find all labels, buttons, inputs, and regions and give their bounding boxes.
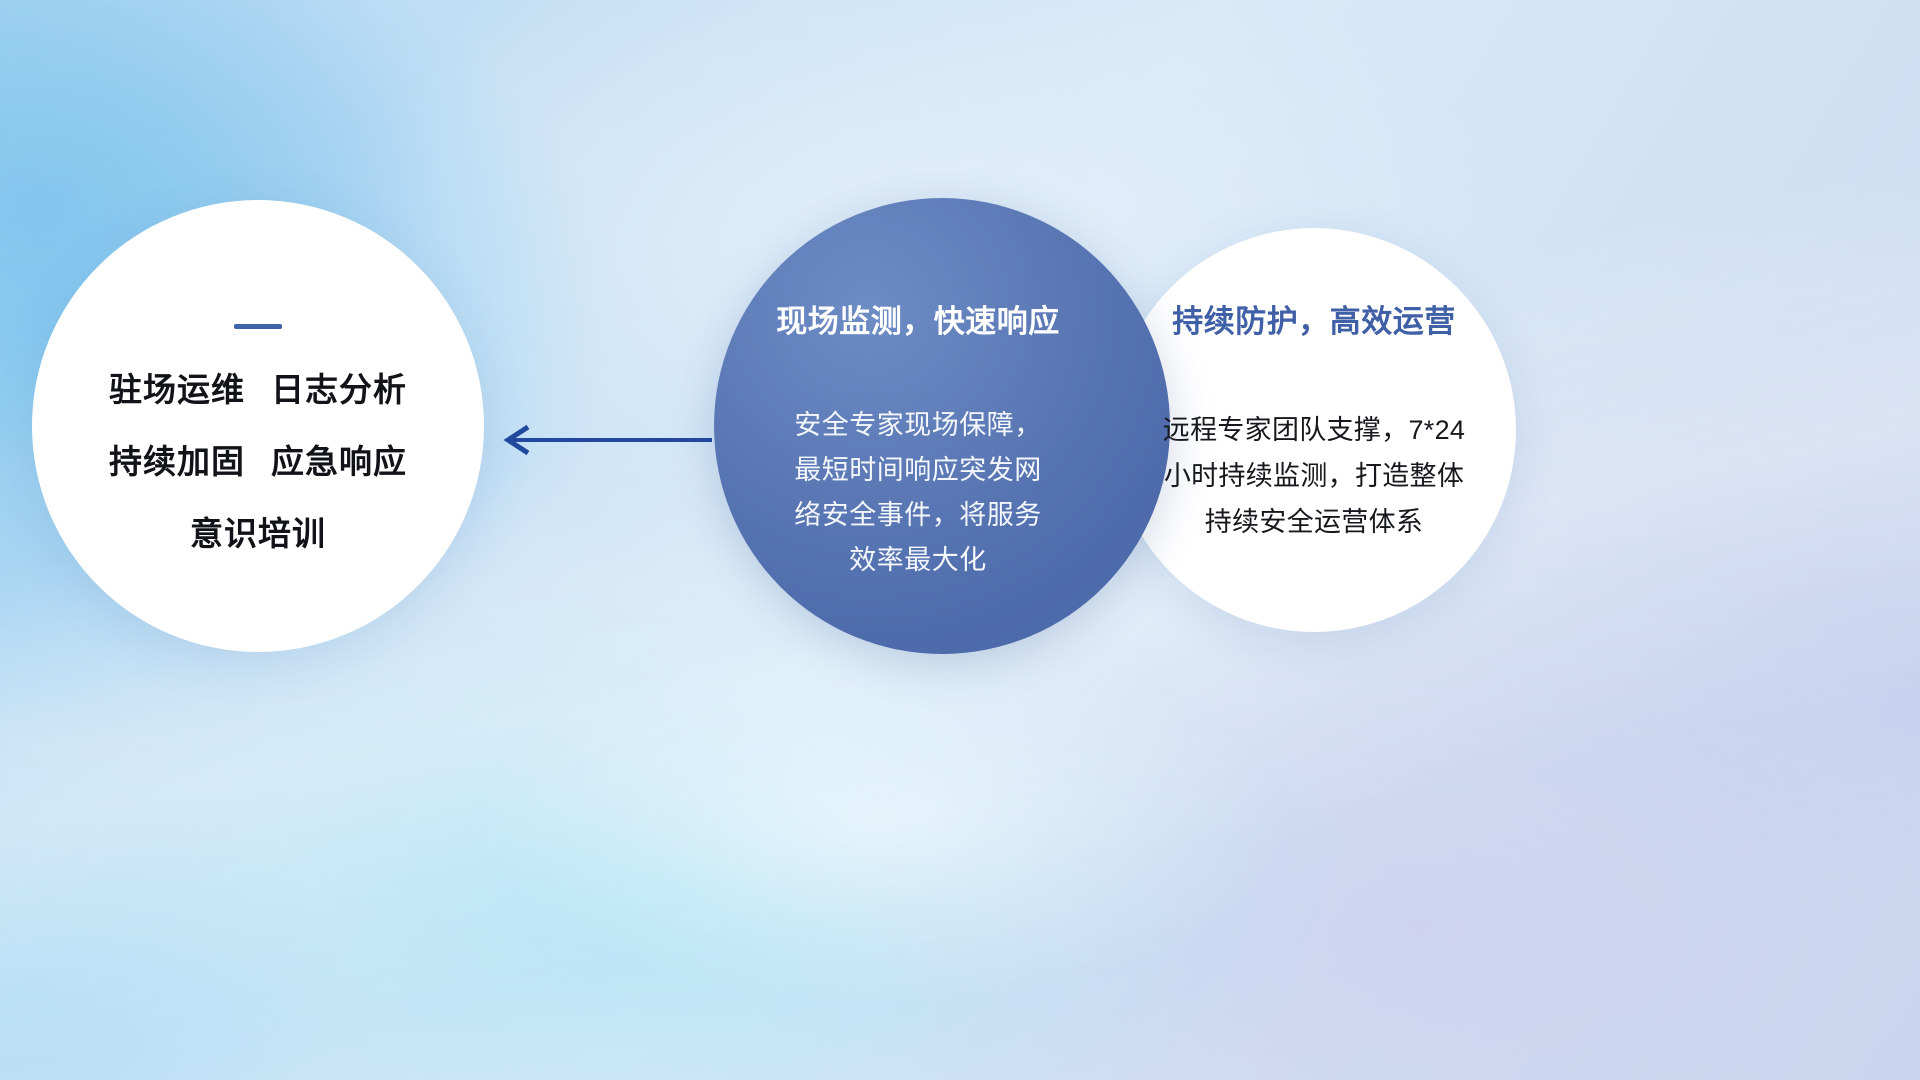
right-circle-content: 持续防护，高效运营 远程专家团队支撑，7*24 小时持续监测，打造整体 持续安全…: [1128, 296, 1500, 545]
keyword-label: 持续加固: [109, 443, 245, 480]
list-item: 意识培训: [190, 507, 326, 555]
body-line: 安全专家现场保障，: [758, 403, 1078, 448]
keyword-label: 应急响应: [271, 443, 407, 480]
body-line: 络安全事件，将服务: [758, 493, 1078, 538]
arrow-left-icon: [494, 424, 712, 456]
short-dash-icon: [234, 324, 282, 329]
middle-circle-title: 现场监测，快速响应: [758, 296, 1078, 341]
middle-circle-content: 现场监测，快速响应 安全专家现场保障， 最短时间响应突发网 络安全事件，将服务 …: [758, 296, 1078, 583]
left-circle-keyword-list: 驻场运维日志分析 持续加固应急响应 意识培训: [32, 363, 484, 555]
body-line: 远程专家团队支撑，7*24: [1128, 407, 1500, 453]
body-line: 小时持续监测，打造整体: [1128, 453, 1500, 499]
left-circle-card[interactable]: 驻场运维日志分析 持续加固应急响应 意识培训: [32, 200, 484, 652]
right-circle-body: 远程专家团队支撑，7*24 小时持续监测，打造整体 持续安全运营体系: [1128, 407, 1500, 545]
keyword-label: 日志分析: [271, 371, 407, 408]
right-circle-title: 持续防护，高效运营: [1128, 296, 1500, 341]
list-item: 持续加固应急响应: [109, 435, 407, 483]
body-line: 最短时间响应突发网: [758, 448, 1078, 493]
list-item: 驻场运维日志分析: [109, 363, 407, 411]
body-line: 持续安全运营体系: [1128, 499, 1500, 545]
body-line: 效率最大化: [758, 538, 1078, 583]
keyword-label: 驻场运维: [109, 371, 245, 408]
middle-circle-body: 安全专家现场保障， 最短时间响应突发网 络安全事件，将服务 效率最大化: [758, 403, 1078, 583]
